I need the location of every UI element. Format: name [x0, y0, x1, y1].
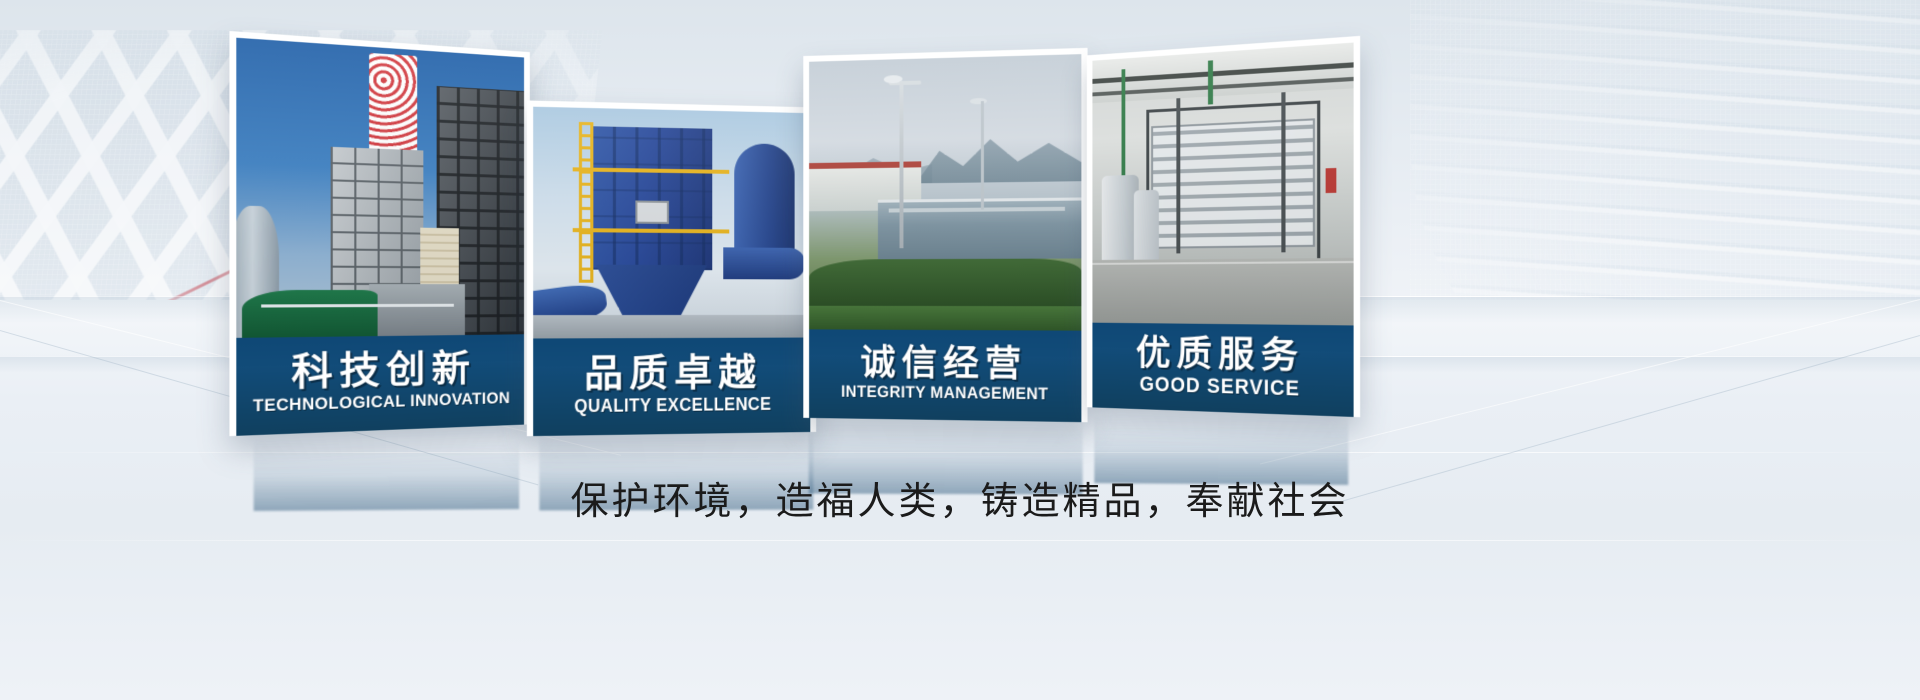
panel-4-title-en: GOOD SERVICE [1140, 372, 1300, 402]
panel-3-title-en: INTEGRITY MANAGEMENT [841, 382, 1048, 405]
panel-2-caption: 品质卓越 QUALITY EXCELLENCE [533, 338, 810, 437]
panel-2-card: 品质卓越 QUALITY EXCELLENCE [527, 100, 816, 436]
photo-dust-collector [533, 107, 810, 339]
panel-3-photo [809, 54, 1081, 331]
panel-quality-excellence[interactable]: 品质卓越 QUALITY EXCELLENCE [527, 100, 816, 436]
panel-1-title-en: TECHNOLOGICAL INNOVATION [253, 389, 510, 417]
panel-technological-innovation[interactable]: 科技创新 TECHNOLOGICAL INNOVATION [229, 31, 529, 436]
panel-3-title-zh: 诚信经营 [860, 344, 1027, 384]
panel-1-photo [236, 38, 524, 338]
banner-tagline: 保护环境，造福人类，铸造精品，奉献社会 [0, 470, 1920, 525]
photo-sewage-treatment-plant [809, 54, 1081, 331]
panel-4-card: 优质服务 GOOD SERVICE [1087, 36, 1360, 417]
panel-3-caption: 诚信经营 INTEGRITY MANAGEMENT [809, 329, 1081, 422]
panel-1-title-zh: 科技创新 [291, 350, 476, 395]
company-culture-banner: 科技创新 TECHNOLOGICAL INNOVATION [0, 0, 1920, 700]
panel-1-card: 科技创新 TECHNOLOGICAL INNOVATION [229, 31, 529, 436]
panel-4-title-zh: 优质服务 [1136, 334, 1305, 376]
panel-2-photo [533, 107, 810, 339]
panel-4-caption: 优质服务 GOOD SERVICE [1092, 323, 1353, 417]
photo-power-plant-stack [236, 38, 524, 338]
photo-water-treatment-room [1092, 43, 1353, 326]
panel-good-service[interactable]: 优质服务 GOOD SERVICE [1087, 36, 1360, 417]
panel-3-card: 诚信经营 INTEGRITY MANAGEMENT [803, 48, 1087, 422]
panel-row: 科技创新 TECHNOLOGICAL INNOVATION [0, 0, 1920, 700]
panel-1-caption: 科技创新 TECHNOLOGICAL INNOVATION [236, 334, 524, 436]
panel-integrity-management[interactable]: 诚信经营 INTEGRITY MANAGEMENT [803, 48, 1087, 422]
panel-2-title-en: QUALITY EXCELLENCE [574, 394, 771, 418]
panel-4-photo [1092, 43, 1353, 326]
panel-2-title-zh: 品质卓越 [584, 353, 762, 395]
